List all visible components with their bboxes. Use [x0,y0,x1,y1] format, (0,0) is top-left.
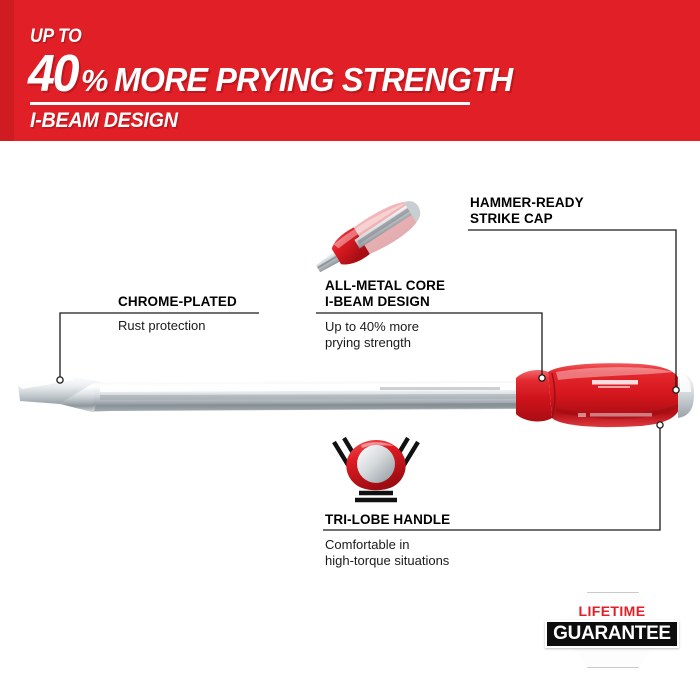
callout-hammer-ready-title-line2: STRIKE CAP [470,211,584,227]
badge-lifetime-label: LIFETIME [538,603,686,619]
strike-cap [678,372,694,418]
callout-hammer-ready: HAMMER-READY STRIKE CAP [470,195,584,227]
callout-all-metal-core-body-line1: Up to 40% more [325,319,445,335]
callout-chrome-plated: CHROME-PLATED Rust protection [118,294,237,334]
tri-lobe-core [357,445,395,483]
tri-lobe-icon [325,432,427,504]
callout-tri-lobe-handle-body-line2: high-torque situations [325,553,450,569]
leader-dot-tri-lobe [657,422,663,428]
banner-eyebrow: UP TO [30,27,82,46]
brand-logo [592,380,638,388]
callout-tri-lobe-handle-body-line1: Comfortable in [325,537,450,553]
banner-divider-rule [30,102,470,105]
callout-chrome-plated-body: Rust protection [118,318,237,334]
badge-guarantee-label: GUARANTEE [545,623,679,645]
callout-chrome-plated-title: CHROME-PLATED [118,294,237,310]
callout-tri-lobe-handle: TRI-LOBE HANDLE Comfortable in high-torq… [325,512,450,569]
banner-subheadline: I-BEAM DESIGN [30,110,178,131]
callout-all-metal-core: ALL-METAL CORE I-BEAM DESIGN Up to 40% m… [325,278,445,351]
pry-bar-shaft [18,376,520,412]
lifetime-guarantee-badge: LIFETIME GUARANTEE [538,592,686,666]
header-banner: UP TO 40 % MORE PRYING STRENGTH I-BEAM D… [0,0,700,141]
banner-headline-rest: MORE PRYING STRENGTH [114,63,512,96]
banner-headline: 40 % MORE PRYING STRENGTH [28,48,525,100]
banner-percent-symbol: % [81,65,108,96]
handle-spec-print [578,413,652,417]
banner-left-stripe [0,0,14,141]
leader-dot-all-metal-core [539,375,545,381]
leader-dot-chrome-plated [57,377,63,383]
cutaway-core-illustration [305,192,433,282]
callout-all-metal-core-body-line2: prying strength [325,335,445,351]
leader-dot-hammer-ready [673,387,679,393]
banner-big-number: 40 [28,48,77,100]
tool-handle [516,363,694,427]
callout-hammer-ready-title-line1: HAMMER-READY [470,195,584,211]
callout-all-metal-core-title-line1: ALL-METAL CORE [325,278,445,294]
product-infographic: UP TO 40 % MORE PRYING STRENGTH I-BEAM D… [0,0,700,700]
leader-hammer-ready [468,230,676,387]
callout-all-metal-core-title-line2: I-BEAM DESIGN [325,294,445,310]
callout-tri-lobe-handle-title: TRI-LOBE HANDLE [325,512,450,528]
